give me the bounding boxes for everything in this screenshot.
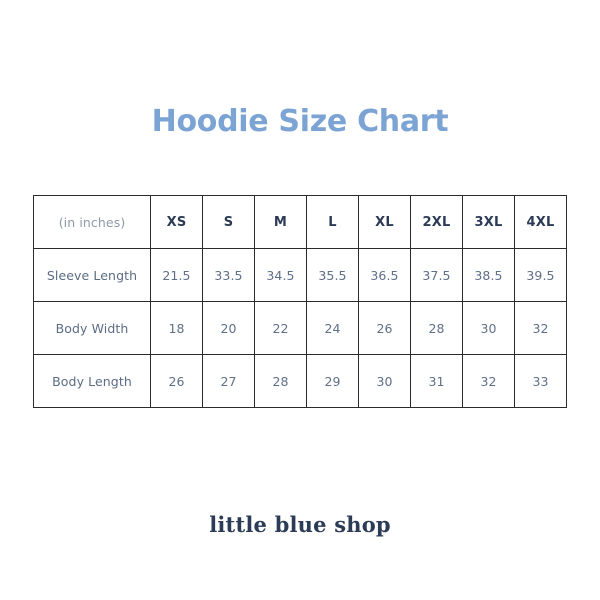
- row-label-sleeve-length: Sleeve Length: [34, 249, 151, 302]
- cell-body-length-s: 27: [203, 355, 255, 408]
- cell-body-width-3xl: 30: [463, 302, 515, 355]
- cell-body-width-4xl: 32: [515, 302, 567, 355]
- cell-body-length-xs: 26: [151, 355, 203, 408]
- size-header-xl: XL: [359, 196, 411, 249]
- cell-sleeve-length-m: 34.5: [255, 249, 307, 302]
- cell-sleeve-length-2xl: 37.5: [411, 249, 463, 302]
- cell-body-length-2xl: 31: [411, 355, 463, 408]
- cell-body-length-m: 28: [255, 355, 307, 408]
- cell-body-length-xl: 30: [359, 355, 411, 408]
- cell-sleeve-length-l: 35.5: [307, 249, 359, 302]
- cell-sleeve-length-s: 33.5: [203, 249, 255, 302]
- size-header-2xl: 2XL: [411, 196, 463, 249]
- cell-body-length-4xl: 33: [515, 355, 567, 408]
- table-header-row: (in inches) XS S M L XL 2XL 3XL 4XL: [34, 196, 567, 249]
- brand-wordmark: little blue shop: [0, 512, 600, 537]
- row-label-body-width: Body Width: [34, 302, 151, 355]
- cell-body-width-l: 24: [307, 302, 359, 355]
- size-chart-table: (in inches) XS S M L XL 2XL 3XL 4XL Slee…: [33, 195, 567, 408]
- cell-body-width-2xl: 28: [411, 302, 463, 355]
- size-chart-table-container: (in inches) XS S M L XL 2XL 3XL 4XL Slee…: [33, 195, 567, 408]
- cell-body-width-m: 22: [255, 302, 307, 355]
- cell-body-width-xs: 18: [151, 302, 203, 355]
- table-row: Sleeve Length 21.5 33.5 34.5 35.5 36.5 3…: [34, 249, 567, 302]
- table-row: Body Length 26 27 28 29 30 31 32 33: [34, 355, 567, 408]
- cell-sleeve-length-4xl: 39.5: [515, 249, 567, 302]
- size-header-xs: XS: [151, 196, 203, 249]
- cell-body-length-l: 29: [307, 355, 359, 408]
- size-chart-page: Hoodie Size Chart (in inches) XS S M L X…: [0, 0, 600, 600]
- size-header-3xl: 3XL: [463, 196, 515, 249]
- row-label-body-length: Body Length: [34, 355, 151, 408]
- cell-sleeve-length-xl: 36.5: [359, 249, 411, 302]
- size-header-l: L: [307, 196, 359, 249]
- size-header-m: M: [255, 196, 307, 249]
- cell-sleeve-length-xs: 21.5: [151, 249, 203, 302]
- size-header-s: S: [203, 196, 255, 249]
- cell-body-width-s: 20: [203, 302, 255, 355]
- cell-sleeve-length-3xl: 38.5: [463, 249, 515, 302]
- table-row: Body Width 18 20 22 24 26 28 30 32: [34, 302, 567, 355]
- size-header-4xl: 4XL: [515, 196, 567, 249]
- cell-body-length-3xl: 32: [463, 355, 515, 408]
- page-title: Hoodie Size Chart: [0, 104, 600, 140]
- cell-body-width-xl: 26: [359, 302, 411, 355]
- unit-label-cell: (in inches): [34, 196, 151, 249]
